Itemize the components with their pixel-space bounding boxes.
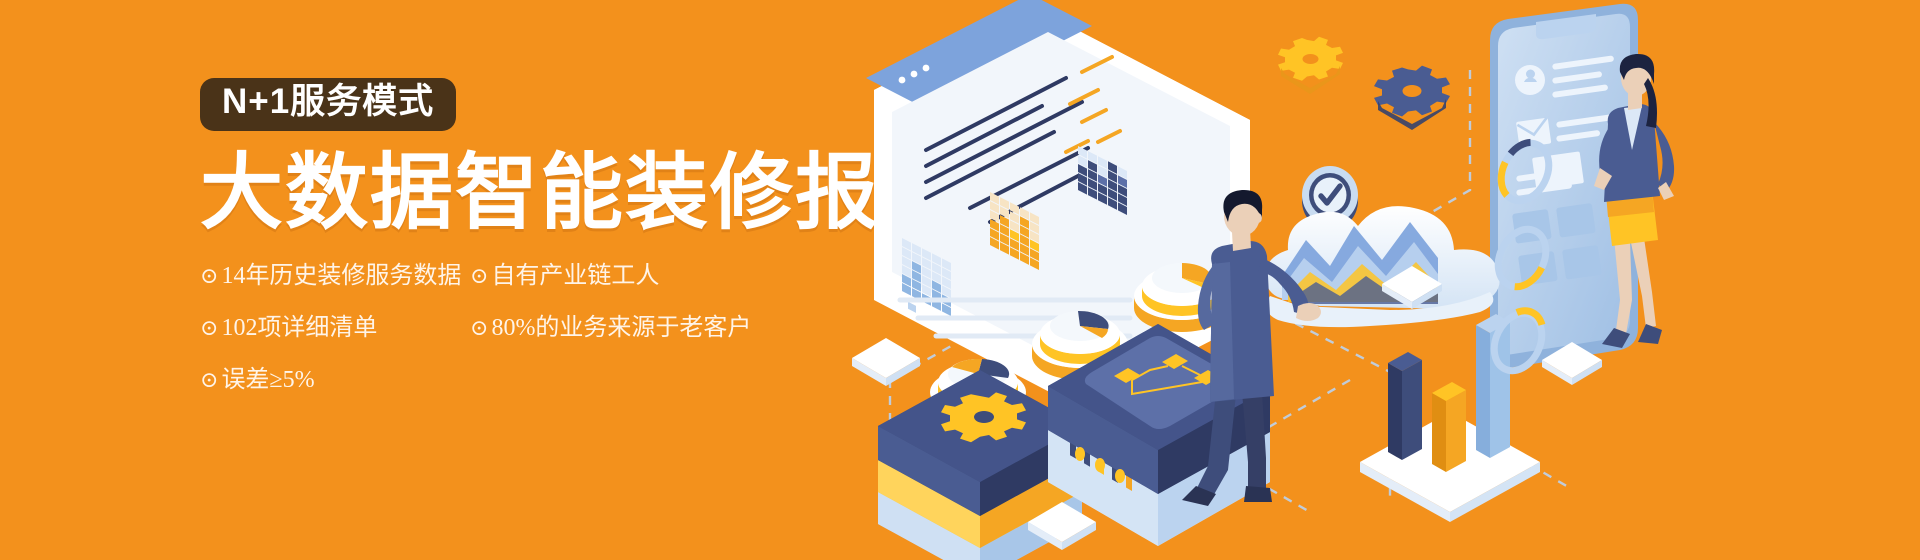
list-item: ⊙80%的业务来源于老客户	[470, 316, 790, 340]
bullet-label: 102项详细清单	[221, 315, 377, 341]
service-mode-badge: N+1服务模式	[200, 78, 456, 131]
list-item: ⊙14年历史装修服务数据	[200, 264, 470, 288]
circled-dot-icon: ⊙	[470, 315, 488, 340]
promo-banner: N+1服务模式 大数据智能装修报价 ⊙14年历史装修服务数据 ⊙自有产业链工人 …	[0, 0, 1920, 560]
gear-navy	[1374, 66, 1450, 130]
gear-orange	[1278, 37, 1343, 94]
circled-dot-icon: ⊙	[200, 263, 218, 288]
circled-dot-icon: ⊙	[200, 367, 218, 392]
list-item: ⊙102项详细清单	[200, 316, 470, 340]
list-item: ⊙误差≥5%	[200, 368, 470, 392]
text-block: N+1服务模式 大数据智能装修报价 ⊙14年历史装修服务数据 ⊙自有产业链工人 …	[200, 78, 900, 420]
bullet-label: 14年历史装修服务数据	[221, 263, 461, 289]
bullet-label: 误差≥5%	[221, 367, 314, 393]
circled-dot-icon: ⊙	[200, 315, 218, 340]
list-item: ⊙自有产业链工人	[470, 264, 790, 288]
bullet-label: 自有产业链工人	[491, 263, 659, 289]
feature-bullet-list: ⊙14年历史装修服务数据 ⊙自有产业链工人 ⊙102项详细清单 ⊙80%的业务来…	[200, 264, 820, 420]
page-title: 大数据智能装修报价	[200, 151, 900, 234]
floating-card	[852, 338, 920, 386]
circled-dot-icon: ⊙	[470, 263, 488, 288]
isometric-illustration	[830, 0, 1920, 560]
bullet-label: 80%的业务来源于老客户	[491, 315, 751, 341]
